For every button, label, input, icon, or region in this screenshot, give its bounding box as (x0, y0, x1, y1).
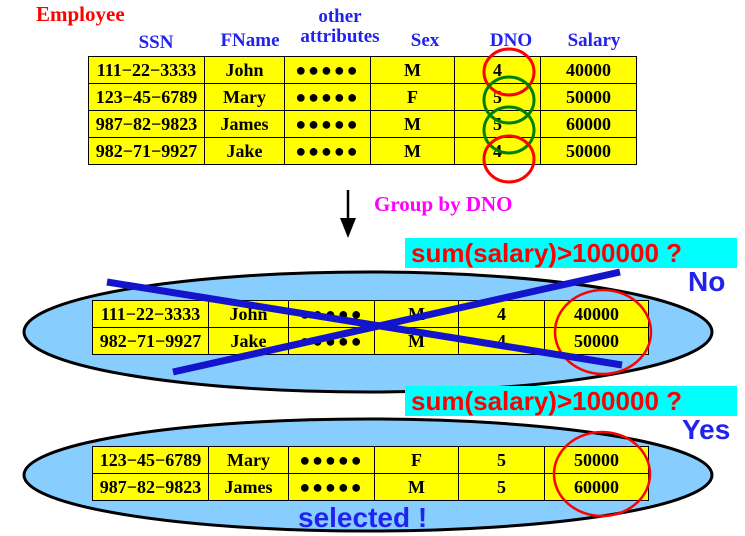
column-header-fname: FName (204, 30, 296, 52)
cell-dno: 4 (455, 57, 541, 84)
cell-dno: 5 (459, 447, 545, 474)
cell-other: ●●●●● (285, 138, 371, 165)
cell-sex: M (371, 111, 455, 138)
group-2-table: 123−45−6789 Mary ●●●●● F 5 50000 987−82−… (92, 446, 649, 501)
cell-dno: 5 (455, 84, 541, 111)
cell-fname: John (205, 57, 285, 84)
cell-other: ●●●●● (285, 57, 371, 84)
column-header-sex: Sex (384, 30, 466, 52)
table-row: 111−22−3333 John ●●●●● M 4 40000 (89, 57, 637, 84)
cell-salary: 50000 (545, 447, 649, 474)
cell-fname: James (205, 111, 285, 138)
cell-ssn: 123−45−6789 (93, 447, 209, 474)
cell-fname: Jake (209, 328, 289, 355)
cell-other: ●●●●● (285, 84, 371, 111)
condition-badge-group-2: sum(salary)>100000 ? (405, 386, 737, 416)
cell-dno: 5 (455, 111, 541, 138)
cell-salary: 40000 (545, 301, 649, 328)
column-header-other: other (296, 8, 384, 25)
cell-other: ●●●●● (285, 111, 371, 138)
table-row: 111−22−3333 John ●●●●● M 4 40000 (93, 301, 649, 328)
cell-sex: M (375, 474, 459, 501)
cell-ssn: 987−82−9823 (89, 111, 205, 138)
group-by-label: Group by DNO (374, 192, 512, 217)
table-row: 987−82−9823 James ●●●●● M 5 60000 (93, 474, 649, 501)
answer-group-1: No (688, 266, 725, 298)
answer-group-2: Yes (682, 414, 730, 446)
cell-fname: Mary (205, 84, 285, 111)
cell-sex: F (375, 447, 459, 474)
table-row: 123−45−6789 Mary ●●●●● F 5 50000 (89, 84, 637, 111)
cell-other: ●●●●● (289, 301, 375, 328)
group-1-table: 111−22−3333 John ●●●●● M 4 40000 982−71−… (92, 300, 649, 355)
cell-sex: M (375, 328, 459, 355)
table-row: 123−45−6789 Mary ●●●●● F 5 50000 (93, 447, 649, 474)
cell-sex: M (375, 301, 459, 328)
cell-salary: 60000 (545, 474, 649, 501)
table-row: 987−82−9823 James ●●●●● M 5 60000 (89, 111, 637, 138)
cell-dno: 5 (459, 474, 545, 501)
cell-fname: Jake (205, 138, 285, 165)
cell-dno: 4 (459, 301, 545, 328)
cell-ssn: 982−71−9927 (93, 328, 209, 355)
column-header-salary: Salary (552, 30, 636, 52)
cell-salary: 40000 (541, 57, 637, 84)
cell-ssn: 111−22−3333 (93, 301, 209, 328)
column-header-attributes: attributes (292, 28, 388, 45)
cell-sex: F (371, 84, 455, 111)
cell-other: ●●●●● (289, 474, 375, 501)
condition-badge-group-1: sum(salary)>100000 ? (405, 238, 737, 268)
cell-sex: M (371, 138, 455, 165)
diagram-canvas: Employee SSN FName other attributes Sex … (0, 0, 745, 536)
selected-note: selected ! (298, 502, 427, 534)
cell-fname: John (209, 301, 289, 328)
table-row: 982−71−9927 Jake ●●●●● M 4 50000 (93, 328, 649, 355)
cell-fname: Mary (209, 447, 289, 474)
cell-dno: 4 (459, 328, 545, 355)
employee-table: 111−22−3333 John ●●●●● M 4 40000 123−45−… (88, 56, 637, 165)
cell-salary: 50000 (541, 138, 637, 165)
column-header-dno: DNO (468, 30, 554, 52)
cell-ssn: 111−22−3333 (89, 57, 205, 84)
table-row: 982−71−9927 Jake ●●●●● M 4 50000 (89, 138, 637, 165)
column-header-ssn: SSN (108, 32, 204, 54)
cell-sex: M (371, 57, 455, 84)
cell-fname: James (209, 474, 289, 501)
cell-ssn: 123−45−6789 (89, 84, 205, 111)
cell-salary: 60000 (541, 111, 637, 138)
page-title: Employee (36, 2, 125, 27)
cell-other: ●●●●● (289, 447, 375, 474)
cell-ssn: 982−71−9927 (89, 138, 205, 165)
cell-dno: 4 (455, 138, 541, 165)
cell-salary: 50000 (541, 84, 637, 111)
cell-salary: 50000 (545, 328, 649, 355)
cell-ssn: 987−82−9823 (93, 474, 209, 501)
cell-other: ●●●●● (289, 328, 375, 355)
